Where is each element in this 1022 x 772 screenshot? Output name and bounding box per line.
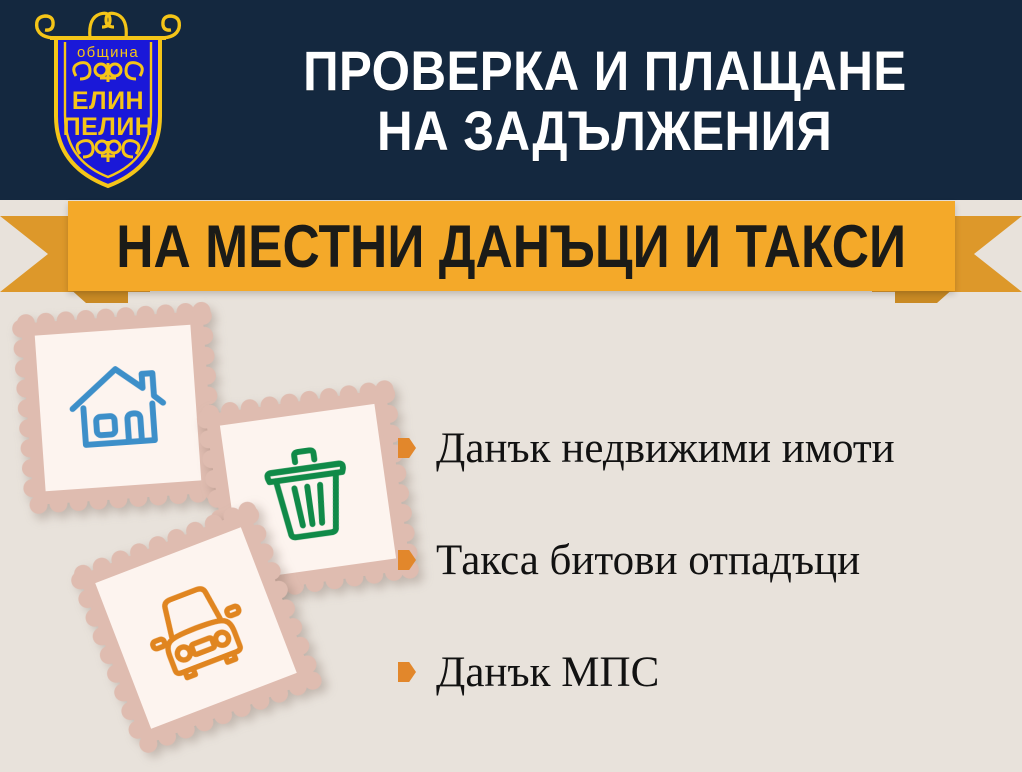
list-item[interactable]: Данък МПС: [398, 644, 1018, 700]
ribbon-text: НА МЕСТНИ ДАНЪЦИ И ТАКСИ: [117, 212, 907, 281]
stamp-cluster: [0, 300, 420, 772]
car-front-icon: [126, 558, 266, 698]
municipality-logo: община ЕЛИН ПЕЛИН: [28, 8, 188, 193]
logo-line-3: ПЕЛИН: [63, 113, 154, 141]
list-item-label: Такса битови отпадъци: [436, 539, 860, 582]
list-item[interactable]: Такса битови отпадъци: [398, 532, 1018, 588]
list-item[interactable]: Данък недвижими имоти: [398, 420, 1018, 476]
arrow-bullet-icon: [398, 662, 416, 682]
arrow-bullet-icon: [398, 550, 416, 570]
list-item-label: Данък МПС: [436, 651, 659, 694]
list-item-label: Данък недвижими имоти: [436, 427, 895, 470]
arrow-bullet-icon: [398, 438, 416, 458]
tax-type-list: Данък недвижими имоти Такса битови отпад…: [398, 420, 1018, 700]
house-icon: [60, 350, 175, 465]
stamp-card-house: [11, 301, 224, 514]
stamp-inner-house: [35, 325, 202, 492]
poster-root: община ЕЛИН ПЕЛИН ПРОВЕРКА И ПЛАЩАНЕ НА …: [0, 0, 1022, 772]
subtitle-ribbon: НА МЕСТНИ ДАНЪЦИ И ТАКСИ: [0, 199, 1022, 309]
title-line-1: ПРОВЕРКА И ПЛАЩАНЕ: [303, 41, 907, 101]
header-bar: община ЕЛИН ПЕЛИН ПРОВЕРКА И ПЛАЩАНЕ НА …: [0, 0, 1022, 200]
logo-line-1: община: [77, 44, 139, 61]
ribbon-band: НА МЕСТНИ ДАНЪЦИ И ТАКСИ: [68, 201, 955, 291]
title-line-2: НА ЗАДЪЛЖЕНИЯ: [377, 101, 832, 161]
page-title: ПРОВЕРКА И ПЛАЩАНЕ НА ЗАДЪЛЖЕНИЯ: [195, 16, 1015, 186]
logo-line-2: ЕЛИН: [72, 87, 144, 115]
